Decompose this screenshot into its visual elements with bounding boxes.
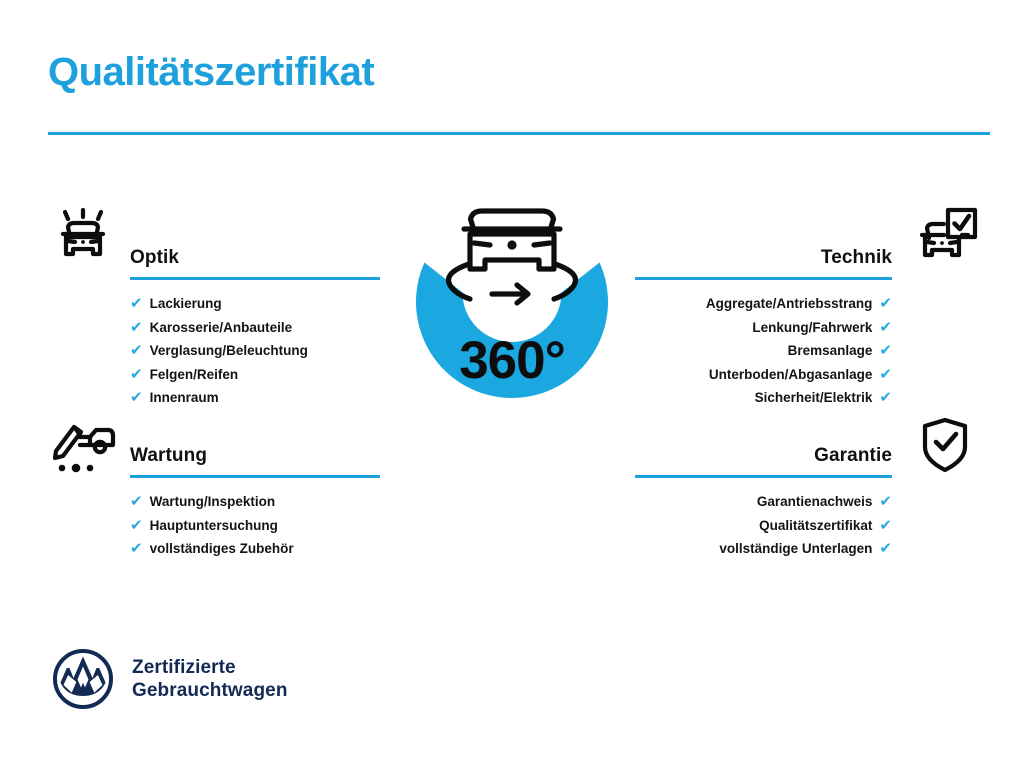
check-icon: ✔ xyxy=(130,541,143,556)
car-checkbox-icon xyxy=(908,204,982,266)
list-item-label: Aggregate/Antriebsstrang xyxy=(706,297,873,311)
list-item: Aggregate/Antriebsstrang✔ xyxy=(635,292,892,316)
badge-360-check: Gebrauchtwagen-Check 360° xyxy=(374,196,650,488)
list-item-label: Garantienachweis xyxy=(757,495,873,509)
list-item-label: Bremsanlage xyxy=(788,344,873,358)
list-item: Sicherheit/Elektrik✔ xyxy=(635,386,892,410)
title-divider xyxy=(48,132,990,135)
section-title: Garantie xyxy=(814,445,892,467)
check-icon: ✔ xyxy=(879,296,892,311)
vw-certified-logo: Zertifizierte Gebrauchtwagen xyxy=(52,648,288,710)
section-divider xyxy=(635,475,892,478)
list-item-label: Unterboden/Abgasanlage xyxy=(709,368,873,382)
certificate-page: Qualitätszertifikat Optik ✔Lackierung ✔K… xyxy=(0,0,1024,768)
section-technik: Technik Aggregate/Antriebsstrang✔ Lenkun… xyxy=(635,234,892,410)
check-icon: ✔ xyxy=(130,367,143,382)
list-item-label: Hauptuntersuchung xyxy=(150,519,278,533)
section-header: Optik xyxy=(130,234,380,280)
check-icon: ✔ xyxy=(879,343,892,358)
section-item-list: ✔Wartung/Inspektion ✔Hauptuntersuchung ✔… xyxy=(130,490,380,561)
badge-value: 360° xyxy=(374,334,650,387)
section-wartung: Wartung ✔Wartung/Inspektion ✔Hauptunters… xyxy=(130,432,380,561)
list-item-label: Innenraum xyxy=(150,391,219,405)
section-title: Technik xyxy=(821,247,892,269)
section-optik: Optik ✔Lackierung ✔Karosserie/Anbauteile… xyxy=(130,234,380,410)
list-item: ✔Hauptuntersuchung xyxy=(130,514,380,538)
check-icon: ✔ xyxy=(879,390,892,405)
list-item: ✔Karosserie/Anbauteile xyxy=(130,316,380,340)
section-garantie: Garantie Garantienachweis✔ Qualitätszert… xyxy=(635,432,892,561)
list-item-label: Qualitätszertifikat xyxy=(759,519,872,533)
check-icon: ✔ xyxy=(879,367,892,382)
vw-logo-line-2: Gebrauchtwagen xyxy=(132,679,288,702)
list-item: ✔Felgen/Reifen xyxy=(130,363,380,387)
section-item-list: Garantienachweis✔ Qualitätszertifikat✔ v… xyxy=(635,490,892,561)
list-item-label: Sicherheit/Elektrik xyxy=(755,391,873,405)
check-icon: ✔ xyxy=(130,320,143,335)
check-icon: ✔ xyxy=(130,343,143,358)
list-item: ✔Innenraum xyxy=(130,386,380,410)
car-service-icon xyxy=(46,414,120,476)
check-icon: ✔ xyxy=(130,390,143,405)
check-icon: ✔ xyxy=(130,494,143,509)
section-header: Wartung xyxy=(130,432,380,478)
list-item: Bremsanlage✔ xyxy=(635,339,892,363)
list-item: Garantienachweis✔ xyxy=(635,490,892,514)
section-title: Optik xyxy=(130,247,179,269)
vw-logo-line-1: Zertifizierte xyxy=(132,656,288,679)
section-item-list: ✔Lackierung ✔Karosserie/Anbauteile ✔Verg… xyxy=(130,292,380,410)
section-divider xyxy=(130,277,380,280)
list-item-label: Verglasung/Beleuchtung xyxy=(150,344,308,358)
list-item-label: Karosserie/Anbauteile xyxy=(150,321,293,335)
car-shine-icon xyxy=(46,204,120,266)
section-divider xyxy=(635,277,892,280)
check-icon: ✔ xyxy=(879,494,892,509)
list-item: ✔Verglasung/Beleuchtung xyxy=(130,339,380,363)
car-rotate-icon xyxy=(448,211,575,303)
check-icon: ✔ xyxy=(879,541,892,556)
section-title: Wartung xyxy=(130,445,207,467)
vw-logo-icon xyxy=(52,648,114,710)
vw-logo-text: Zertifizierte Gebrauchtwagen xyxy=(132,656,288,702)
list-item-label: Felgen/Reifen xyxy=(150,368,239,382)
section-divider xyxy=(130,475,380,478)
list-item-label: Wartung/Inspektion xyxy=(150,495,276,509)
section-item-list: Aggregate/Antriebsstrang✔ Lenkung/Fahrwe… xyxy=(635,292,892,410)
shield-check-icon xyxy=(908,414,982,476)
section-header: Garantie xyxy=(635,432,892,478)
list-item: Qualitätszertifikat✔ xyxy=(635,514,892,538)
list-item: ✔vollständiges Zubehör xyxy=(130,537,380,561)
list-item: ✔Lackierung xyxy=(130,292,380,316)
check-icon: ✔ xyxy=(879,320,892,335)
section-header: Technik xyxy=(635,234,892,280)
check-icon: ✔ xyxy=(130,296,143,311)
list-item: Lenkung/Fahrwerk✔ xyxy=(635,316,892,340)
list-item: ✔Wartung/Inspektion xyxy=(130,490,380,514)
check-icon: ✔ xyxy=(130,518,143,533)
list-item: vollständige Unterlagen✔ xyxy=(635,537,892,561)
list-item: Unterboden/Abgasanlage✔ xyxy=(635,363,892,387)
list-item-label: Lenkung/Fahrwerk xyxy=(752,321,872,335)
list-item-label: Lackierung xyxy=(150,297,222,311)
page-title: Qualitätszertifikat xyxy=(48,50,374,94)
list-item-label: vollständiges Zubehör xyxy=(150,542,294,556)
check-icon: ✔ xyxy=(879,518,892,533)
list-item-label: vollständige Unterlagen xyxy=(719,542,872,556)
